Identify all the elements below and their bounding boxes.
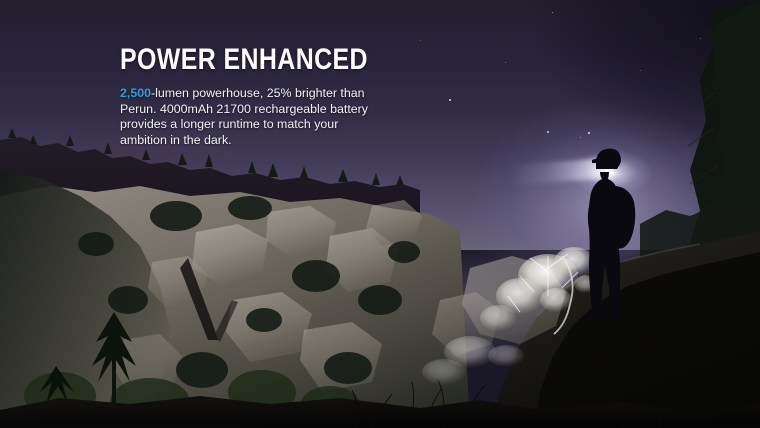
- product-hero-banner: POWER ENHANCED 2,500-lumen powerhouse, 2…: [0, 0, 760, 428]
- hero-description-text: -lumen powerhouse, 25% brighter than Per…: [120, 86, 368, 147]
- hero-copy-block: POWER ENHANCED 2,500-lumen powerhouse, 2…: [120, 45, 410, 148]
- hero-description: 2,500-lumen powerhouse, 25% brighter tha…: [120, 86, 388, 148]
- page-title: POWER ENHANCED: [120, 45, 361, 75]
- lumen-highlight: 2,500: [120, 86, 151, 100]
